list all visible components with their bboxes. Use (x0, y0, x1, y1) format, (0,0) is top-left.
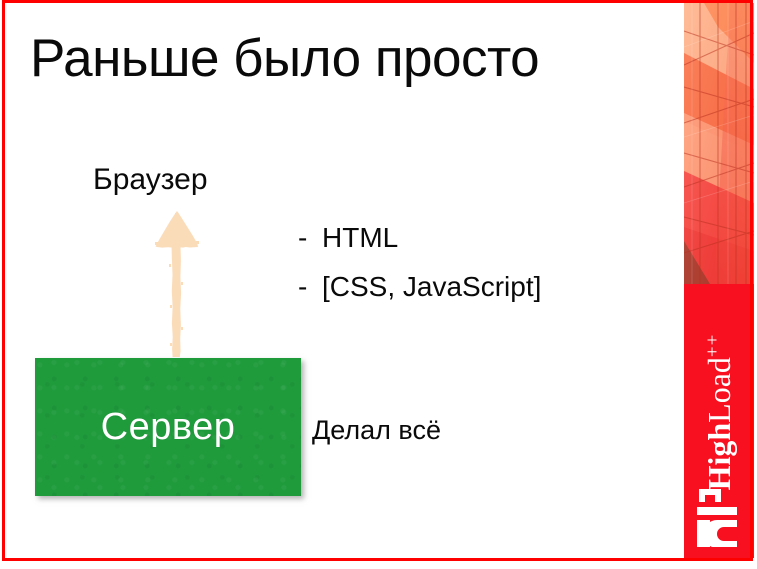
bullet-dash-icon: - (298, 222, 322, 254)
browser-node-label: Браузер (93, 163, 208, 197)
list-item: - [CSS, JavaScript] (298, 271, 541, 303)
server-node-box: Сервер (35, 358, 301, 496)
page-title: Раньше было просто (30, 31, 539, 87)
up-arrow-icon (145, 209, 209, 359)
bullet-dash-icon: - (298, 271, 322, 303)
technology-bullet-list: - HTML - [CSS, JavaScript] (298, 222, 541, 320)
server-node-label: Сервер (101, 406, 236, 449)
brand-sidebar: HighLoad++ (684, 3, 754, 558)
brand-load-label: Load (701, 357, 737, 423)
server-note-label: Делал всё (312, 415, 441, 446)
list-item-label: [CSS, JavaScript] (322, 271, 541, 303)
abstract-geometry-image (684, 3, 754, 284)
highload-logo-icon (693, 489, 747, 547)
slide-canvas: Раньше было просто Браузер (5, 3, 684, 558)
brand-high-label: High (701, 423, 737, 491)
brand-plusplus-label: ++ (702, 334, 723, 357)
list-item-label: HTML (322, 222, 398, 254)
slide-root: Раньше было просто Браузер (0, 0, 757, 569)
brand-block: HighLoad++ (684, 284, 754, 558)
list-item: - HTML (298, 222, 541, 254)
